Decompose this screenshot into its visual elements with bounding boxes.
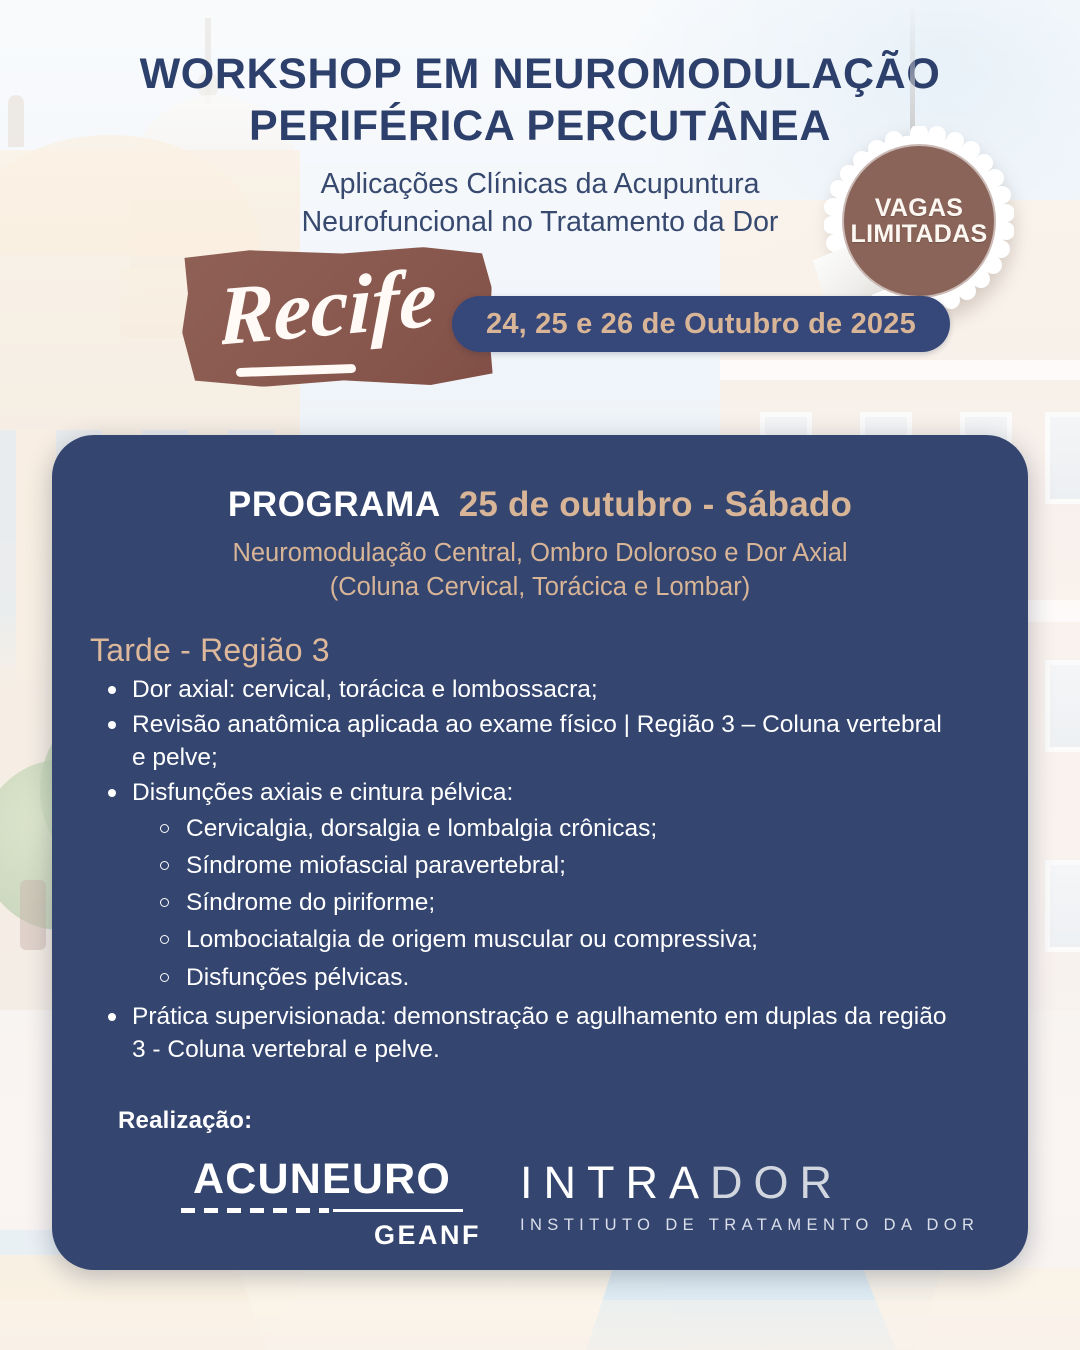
- intrador-word-solid: INTRA: [520, 1157, 710, 1208]
- badge-string: [910, 4, 915, 134]
- intrador-tagline: INSTITUTO DE TRATAMENTO DA DOR: [520, 1216, 990, 1235]
- acuneuro-wordmark: ACUNEURO: [157, 1158, 487, 1201]
- program-item-text: Dor axial: cervical, torácica e lombossa…: [132, 676, 598, 703]
- program-subitem: Síndrome miofascial paravertebral;: [156, 847, 952, 884]
- intrador-wordmark: INTRADOR: [520, 1160, 990, 1205]
- event-date-text: 24, 25 e 26 de Outubro de 2025: [486, 308, 916, 341]
- program-subitem-list: Cervicalgia, dorsalgia e lombalgia crôni…: [156, 810, 952, 996]
- bullet-icon: [108, 721, 116, 729]
- program-item-text: Prática supervisionada: demonstração e a…: [132, 1003, 946, 1064]
- program-card: PROGRAMA 25 de outubro - Sábado Neuromod…: [52, 435, 1028, 1270]
- program-item: Disfunções axiais e cintura pélvica: Cer…: [104, 776, 952, 996]
- bullet-icon: [108, 789, 116, 797]
- poster-title-line1: WORKSHOP EM NEUROMODULAÇÃO: [140, 50, 941, 98]
- program-subitem: Lombociatalgia de origem muscular ou com…: [156, 921, 952, 958]
- svg-text:Recife: Recife: [222, 264, 437, 364]
- badge-text-wrap: VAGAS LIMITADAS: [842, 144, 996, 298]
- limited-seats-badge: VAGAS LIMITADAS: [824, 126, 1020, 322]
- hollow-bullet-icon: [160, 898, 169, 907]
- bullet-icon: [108, 686, 116, 694]
- program-heading-row: PROGRAMA 25 de outubro - Sábado: [52, 435, 1028, 525]
- bullet-icon: [108, 1013, 116, 1021]
- hollow-bullet-icon: [160, 935, 169, 944]
- realizacao-label: Realização:: [118, 1107, 252, 1135]
- program-item-text: Revisão anatômica aplicada ao exame físi…: [132, 711, 942, 772]
- program-subtitle: Neuromodulação Central, Ombro Doloroso e…: [52, 537, 1028, 604]
- event-date-pill: 24, 25 e 26 de Outubro de 2025: [452, 296, 950, 352]
- program-subitem: Síndrome do piriforme;: [156, 884, 952, 921]
- program-item: Revisão anatômica aplicada ao exame físi…: [104, 708, 952, 775]
- intrador-logo: INTRADOR INSTITUTO DE TRATAMENTO DA DOR: [520, 1160, 990, 1235]
- program-subitem-text: Síndrome miofascial paravertebral;: [186, 852, 566, 879]
- program-item-text: Disfunções axiais e cintura pélvica:: [132, 779, 513, 806]
- acuneuro-geanf-text: GEANF: [157, 1220, 487, 1251]
- intrador-word-fade: DOR: [710, 1157, 843, 1208]
- program-section-title: Tarde - Região 3: [90, 632, 1028, 669]
- program-subtitle-line1: Neuromodulação Central, Ombro Doloroso e…: [52, 537, 1028, 571]
- program-subitem-text: Síndrome do piriforme;: [186, 889, 435, 916]
- acuneuro-dashed-rule: [181, 1208, 463, 1213]
- badge-line2: LIMITADAS: [851, 221, 988, 248]
- sponsor-logos: ACUNEURO GEANF INTRADOR INSTITUTO DE TRA…: [52, 1150, 1028, 1260]
- badge-line1: VAGAS: [875, 195, 964, 222]
- program-label: PROGRAMA: [228, 485, 441, 525]
- program-subitem-text: Cervicalgia, dorsalgia e lombalgia crôni…: [186, 815, 657, 842]
- program-subitem: Disfunções pélvicas.: [156, 959, 952, 996]
- program-item: Dor axial: cervical, torácica e lombossa…: [104, 673, 952, 707]
- program-subtitle-line2: (Coluna Cervical, Torácica e Lombar): [52, 571, 1028, 605]
- hollow-bullet-icon: [160, 824, 169, 833]
- acuneuro-logo: ACUNEURO GEANF: [157, 1158, 487, 1251]
- program-subitem-text: Disfunções pélvicas.: [186, 964, 409, 991]
- program-item-list: Dor axial: cervical, torácica e lombossa…: [104, 673, 1028, 1067]
- hollow-bullet-icon: [160, 973, 169, 982]
- program-subitem-text: Lombociatalgia de origem muscular ou com…: [186, 926, 758, 953]
- hollow-bullet-icon: [160, 861, 169, 870]
- program-date: 25 de outubro - Sábado: [459, 485, 852, 525]
- program-item: Prática supervisionada: demonstração e a…: [104, 1000, 952, 1067]
- recife-wordmark: Recife: [222, 264, 472, 370]
- program-subitem: Cervicalgia, dorsalgia e lombalgia crôni…: [156, 810, 952, 847]
